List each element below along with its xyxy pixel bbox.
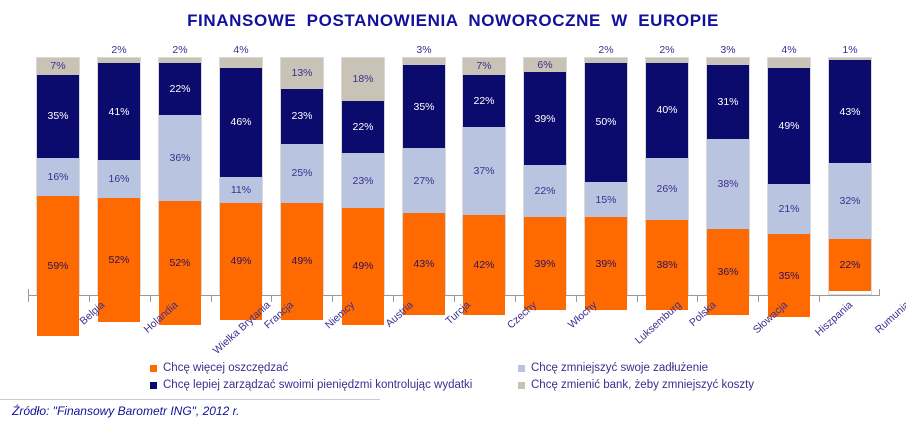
segment-value-label: 46% <box>230 116 251 128</box>
segment-value-label: 4% <box>233 44 248 56</box>
segment-value-label: 22% <box>473 95 494 107</box>
bar-segment[interactable]: 13% <box>281 58 323 89</box>
bar-column[interactable]: 2%40%26%38% <box>645 57 689 295</box>
segment-value-label: 52% <box>169 257 190 269</box>
legend-swatch-icon <box>518 365 525 372</box>
segment-value-label: 36% <box>169 152 190 164</box>
bar-segment[interactable]: 39% <box>585 217 627 310</box>
stacked-bar: 3%31%38%36% <box>706 57 750 295</box>
segment-value-label: 23% <box>291 110 312 122</box>
bar-column[interactable]: 4%49%21%35% <box>767 57 811 295</box>
category-label: Słowacja <box>751 299 790 336</box>
category-label: Włochy <box>566 299 600 331</box>
segment-value-label: 3% <box>720 44 735 56</box>
segment-value-label: 22% <box>352 121 373 133</box>
segment-value-label: 38% <box>656 259 677 271</box>
segment-value-label: 39% <box>534 113 555 125</box>
chart-legend: Chcę więcej oszczędzaćChcę zmniejszyć sw… <box>150 362 890 396</box>
bar-column[interactable]: 3%31%38%36% <box>706 57 750 295</box>
bar-segment[interactable]: 22% <box>524 165 566 217</box>
segment-value-label: 2% <box>598 44 613 56</box>
stacked-bar: 7%35%16%59% <box>36 57 80 295</box>
category-label: Luksemburg <box>633 299 684 347</box>
segment-value-label: 42% <box>473 259 494 271</box>
bar-segment[interactable]: 43% <box>829 60 871 162</box>
bar-segment[interactable]: 40% <box>646 63 688 158</box>
legend-label: Chcę więcej oszczędzać <box>163 362 288 374</box>
bar-segment[interactable]: 46% <box>220 68 262 177</box>
segment-value-label: 59% <box>47 260 68 272</box>
segment-value-label: 26% <box>656 183 677 195</box>
bar-column[interactable]: 1%43%32%22% <box>828 57 872 295</box>
stacked-bar: 2%41%16%52% <box>97 57 141 295</box>
bar-segment[interactable]: 35% <box>403 65 445 148</box>
bar-segment[interactable]: 23% <box>281 89 323 144</box>
segment-value-label: 22% <box>839 259 860 271</box>
segment-value-label: 49% <box>352 260 373 272</box>
source-divider <box>0 399 380 400</box>
source-note: Źródło: "Finansowy Barometr ING", 2012 r… <box>12 404 240 418</box>
segment-value-label: 37% <box>473 165 494 177</box>
segment-value-label: 39% <box>595 258 616 270</box>
bar-column[interactable]: 4%46%11%49% <box>219 57 263 295</box>
page-title: FINANSOWE POSTANOWIENIA NOWOROCZNE W EUR… <box>0 11 906 31</box>
bar-segment[interactable]: 21% <box>768 184 810 234</box>
segment-value-label: 7% <box>50 60 65 72</box>
bar-segment[interactable]: 32% <box>829 163 871 239</box>
segment-value-label: 39% <box>534 258 555 270</box>
bar-segment[interactable]: 4% <box>220 58 262 68</box>
bar-segment[interactable]: 31% <box>707 65 749 139</box>
segment-value-label: 35% <box>47 110 68 122</box>
segment-value-label: 15% <box>595 194 616 206</box>
segment-value-label: 18% <box>352 73 373 85</box>
bar-column[interactable]: 3%35%27%43% <box>402 57 446 295</box>
bar-segment[interactable]: 26% <box>646 158 688 220</box>
bar-column[interactable]: 2%50%15%39% <box>584 57 628 295</box>
x-axis-left-cap <box>28 289 29 296</box>
segment-value-label: 27% <box>413 175 434 187</box>
segment-value-label: 2% <box>172 44 187 56</box>
segment-value-label: 49% <box>291 255 312 267</box>
bar-column[interactable]: 6%39%22%39% <box>523 57 567 295</box>
category-label: Wielka Brytania <box>211 299 273 357</box>
stacked-bar: 4%46%11%49% <box>219 57 263 295</box>
bar-segment[interactable]: 7% <box>463 58 505 75</box>
legend-item[interactable]: Chcę lepiej zarządzać swoimi pieniędzmi … <box>150 379 472 391</box>
segment-value-label: 1% <box>842 44 857 56</box>
segment-value-label: 23% <box>352 175 373 187</box>
segment-value-label: 40% <box>656 104 677 116</box>
segment-value-label: 3% <box>416 44 431 56</box>
legend-swatch-icon <box>150 382 157 389</box>
bar-segment[interactable]: 23% <box>342 153 384 208</box>
segment-value-label: 38% <box>717 178 738 190</box>
bar-segment[interactable]: 3% <box>707 58 749 65</box>
stacked-bar: 6%39%22%39% <box>523 57 567 295</box>
bar-segment[interactable]: 18% <box>342 58 384 101</box>
bar-segment[interactable]: 49% <box>768 68 810 185</box>
segment-value-label: 32% <box>839 195 860 207</box>
legend-swatch-icon <box>150 365 157 372</box>
segment-value-label: 2% <box>111 44 126 56</box>
segment-value-label: 6% <box>537 59 552 71</box>
stacked-bar: 1%43%32%22% <box>828 57 872 295</box>
stacked-bar: 3%35%27%43% <box>402 57 446 295</box>
bar-segment[interactable]: 39% <box>524 72 566 165</box>
segment-value-label: 49% <box>778 120 799 132</box>
bar-segment[interactable]: 25% <box>281 144 323 204</box>
segment-value-label: 43% <box>413 258 434 270</box>
segment-value-label: 22% <box>169 83 190 95</box>
legend-label: Chcę zmniejszyć swoje zadłużenie <box>531 362 708 374</box>
stacked-bar: 2%40%26%38% <box>645 57 689 295</box>
bar-segment[interactable]: 4% <box>768 58 810 68</box>
legend-item[interactable]: Chcę zmienić bank, żeby zmniejszyć koszt… <box>518 379 754 391</box>
segment-value-label: 35% <box>413 101 434 113</box>
segment-value-label: 31% <box>717 96 738 108</box>
bar-column[interactable]: 2%22%36%52% <box>158 57 202 295</box>
stacked-bar: 2%22%36%52% <box>158 57 202 295</box>
category-label: Turcja <box>443 299 472 327</box>
bar-segment[interactable]: 22% <box>463 75 505 127</box>
x-axis-right-cap <box>879 289 880 296</box>
segment-value-label: 4% <box>781 44 796 56</box>
stacked-bar: 4%49%21%35% <box>767 57 811 295</box>
segment-value-label: 7% <box>476 60 491 72</box>
segment-value-label: 35% <box>778 270 799 282</box>
bar-segment[interactable]: 3% <box>403 58 445 65</box>
bar-column[interactable]: 18%22%23%49% <box>341 57 385 295</box>
segment-value-label: 2% <box>659 44 674 56</box>
legend-label: Chcę zmienić bank, żeby zmniejszyć koszt… <box>531 379 754 391</box>
category-label: Rumunia <box>873 299 906 336</box>
segment-value-label: 36% <box>717 266 738 278</box>
legend-label: Chcę lepiej zarządzać swoimi pieniędzmi … <box>163 379 472 391</box>
category-label: Czechy <box>505 299 539 331</box>
segment-value-label: 21% <box>778 203 799 215</box>
category-label: Austria <box>383 299 415 330</box>
legend-item[interactable]: Chcę więcej oszczędzać <box>150 362 288 374</box>
segment-value-label: 49% <box>230 255 251 267</box>
category-label: Belgia <box>78 299 108 327</box>
bar-column[interactable]: 7%35%16%59% <box>36 57 80 295</box>
bar-segment[interactable]: 15% <box>585 182 627 218</box>
bar-segment[interactable]: 22% <box>159 63 201 115</box>
bar-segment[interactable]: 38% <box>707 139 749 229</box>
bar-segment[interactable]: 38% <box>646 220 688 310</box>
plot-area: 7%35%16%59%2%41%16%52%2%22%36%52%4%46%11… <box>28 44 880 296</box>
segment-value-label: 11% <box>231 184 251 196</box>
category-axis-labels: BelgiaHolandiaWielka BrytaniaFrancjaNiem… <box>28 299 880 357</box>
bar-segment[interactable]: 16% <box>37 158 79 196</box>
segment-value-label: 41% <box>108 106 129 118</box>
bar-segment[interactable]: 11% <box>220 177 262 203</box>
stacked-bar: 7%22%37%42% <box>462 57 506 295</box>
segment-value-label: 43% <box>839 106 860 118</box>
bar-segment[interactable]: 41% <box>98 63 140 161</box>
category-label: Polska <box>687 299 718 329</box>
bar-segment[interactable]: 36% <box>159 115 201 201</box>
bar-segment[interactable]: 22% <box>342 101 384 153</box>
category-label: Hiszpania <box>813 299 855 339</box>
bar-segment[interactable]: 39% <box>524 217 566 310</box>
bar-column[interactable]: 7%22%37%42% <box>462 57 506 295</box>
category-label: Holandia <box>142 299 181 336</box>
bar-column[interactable]: 2%41%16%52% <box>97 57 141 295</box>
segment-value-label: 13% <box>291 67 312 79</box>
bar-segment[interactable]: 16% <box>98 160 140 198</box>
stacked-bar: 18%22%23%49% <box>341 57 385 295</box>
segment-value-label: 16% <box>47 171 68 183</box>
bar-segment[interactable]: 7% <box>37 58 79 75</box>
bar-segment[interactable]: 37% <box>463 127 505 215</box>
segment-value-label: 50% <box>595 116 616 128</box>
bar-segment[interactable]: 22% <box>829 239 871 291</box>
category-label: Niemcy <box>323 299 357 331</box>
bar-segment[interactable]: 35% <box>37 75 79 158</box>
stacked-bar: 13%23%25%49% <box>280 57 324 295</box>
chart-root: FINANSOWE POSTANOWIENIA NOWOROCZNE W EUR… <box>0 0 906 427</box>
segment-value-label: 52% <box>108 254 129 266</box>
bar-column[interactable]: 13%23%25%49% <box>280 57 324 295</box>
legend-item[interactable]: Chcę zmniejszyć swoje zadłużenie <box>518 362 708 374</box>
legend-swatch-icon <box>518 382 525 389</box>
bar-segment[interactable]: 50% <box>585 63 627 182</box>
segment-value-label: 25% <box>291 167 312 179</box>
stacked-bar: 2%50%15%39% <box>584 57 628 295</box>
bar-segment[interactable]: 6% <box>524 58 566 72</box>
segment-value-label: 16% <box>108 173 129 185</box>
segment-value-label: 22% <box>534 185 555 197</box>
bar-segment[interactable]: 27% <box>403 148 445 212</box>
